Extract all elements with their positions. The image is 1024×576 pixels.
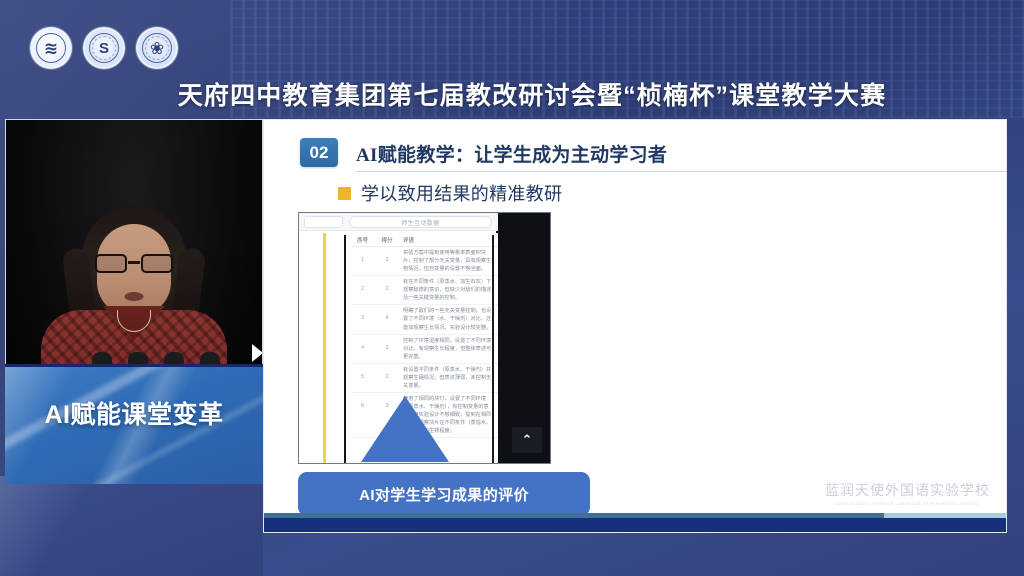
play-arrow-icon[interactable] [252, 344, 263, 362]
emblem-tianfu-mark: ≋ [32, 29, 70, 67]
column-header-comment: 评语 [400, 236, 498, 244]
column-header-no: 序号 [351, 236, 374, 244]
cell-score: 2 [374, 276, 400, 304]
slide-subtitle-row: 学以致用结果的精准教研 [338, 180, 562, 206]
emblem-group: S [83, 27, 125, 69]
logo-row: ≋ S ❀ [30, 27, 178, 69]
cell-score: 2 [374, 364, 400, 392]
session-caption-text: AI赋能课堂变革 [5, 395, 263, 431]
emblem-group-mark: S [85, 29, 123, 67]
presentation-stage: ≋ S ❀ 天府四中教育集团第七届教改研讨会暨“桢楠杯”课堂教学大赛 [0, 0, 1024, 576]
slide-footer-bar-dark [264, 518, 1007, 532]
slide-header-row: 02 AI赋能教学：让学生成为主动学习者 [300, 138, 972, 174]
event-header: ≋ S ❀ 天府四中教育集团第七届教改研讨会暨“桢楠杯”课堂教学大赛 [0, 0, 1024, 118]
background-sheen [0, 476, 263, 576]
table-row: 5 2 有设置不同条件（原蒸水、干燥剂）并观察生硬情况，但表述薄弱，未控制无关变… [351, 364, 498, 393]
callout-text: AI对学生学习成果的评价 [359, 484, 529, 505]
session-caption-panel: AI赋能课堂变革 [5, 364, 263, 484]
cell-score: 3 [374, 335, 400, 363]
screenshot-scrollbar[interactable] [492, 235, 494, 463]
slide-subtitle: 学以致用结果的精准教研 [361, 180, 562, 206]
watermark-cn: 蓝润天使外国语实验学校 [825, 480, 990, 500]
annotation-line-black [344, 235, 346, 463]
slide-canvas: 02 AI赋能教学：让学生成为主动学习者 学以致用结果的精准教研 师生互动数据 … [263, 119, 1007, 533]
callout: AI对学生学习成果的评价 [298, 460, 628, 520]
event-title: 天府四中教育集团第七届教改研讨会暨“桢楠杯”课堂教学大赛 [0, 76, 1024, 112]
table-row: 1 3 实验方案中提到使用等量率表面积块片，控制了部分无关变量，具有观察生物情况… [351, 247, 498, 276]
table-header-row: 序号 得分 评语 [351, 233, 498, 247]
emblem-tianfu: ≋ [30, 27, 72, 69]
glasses-icon [94, 254, 174, 274]
cell-no: 1 [351, 247, 374, 275]
annotation-line-yellow [323, 233, 326, 463]
callout-pointer [361, 396, 449, 462]
bullet-square-icon [338, 187, 351, 200]
scroll-to-top-icon[interactable]: ⌃ [512, 427, 542, 453]
cell-comment: 明确了敌们的一些无关变量控制，也设置了不同环境（水、干燥剂）对比，还能如观察生长… [400, 305, 498, 333]
emblem-school: ❀ [136, 27, 178, 69]
cell-no: 5 [351, 364, 374, 392]
cell-comment: 有设置不同条件（原蒸水、干燥剂）并观察生硬情况，但表述薄弱，未控制无关变量。 [400, 364, 498, 392]
column-header-score: 得分 [374, 236, 400, 244]
cell-no: 3 [351, 305, 374, 333]
cell-score: 4 [374, 305, 400, 333]
screenshot-title-label: 师生互动数据 [401, 218, 439, 227]
table-row: 4 3 控制了环境湿度相同，设置了不同环境对比，有观察生长程度，但整体表述可更完… [351, 335, 498, 364]
emblem-school-mark: ❀ [138, 29, 176, 67]
watermark-en: LANRUN ANGEL FOREIGN LANGUAGE EXPERIMENT… [825, 502, 990, 506]
screenshot-title-pill: 师生互动数据 [349, 216, 492, 228]
slide-title-rule [356, 171, 1007, 172]
cell-comment: 有在不同条件（原蒸水、加生石灰）下观察敌德的意识，但缺少对敌们的描述及一些关键变… [400, 276, 498, 304]
callout-box: AI对学生学习成果的评价 [298, 472, 590, 516]
table-row: 3 4 明确了敌们的一些无关变量控制，也设置了不同环境（水、干燥剂）对比，还能如… [351, 305, 498, 334]
speaker-mouth [125, 292, 144, 301]
cell-no: 4 [351, 335, 374, 363]
school-watermark: 蓝润天使外国语实验学校 LANRUN ANGEL FOREIGN LANGUAG… [825, 480, 990, 506]
slide-title: AI赋能教学：让学生成为主动学习者 [356, 140, 667, 167]
cell-no: 2 [351, 276, 374, 304]
slide-number-badge: 02 [300, 138, 338, 167]
cell-comment: 控制了环境湿度相同，设置了不同环境对比，有观察生长程度，但整体表述可更完善。 [400, 335, 498, 363]
table-row: 2 2 有在不同条件（原蒸水、加生石灰）下观察敌德的意识，但缺少对敌们的描述及一… [351, 276, 498, 305]
screenshot-back-pill[interactable] [304, 216, 343, 228]
cell-score: 3 [374, 247, 400, 275]
cell-comment: 实验方案中提到使用等量率表面积块片，控制了部分无关变量，具有观察生物情况，但自变… [400, 247, 498, 275]
